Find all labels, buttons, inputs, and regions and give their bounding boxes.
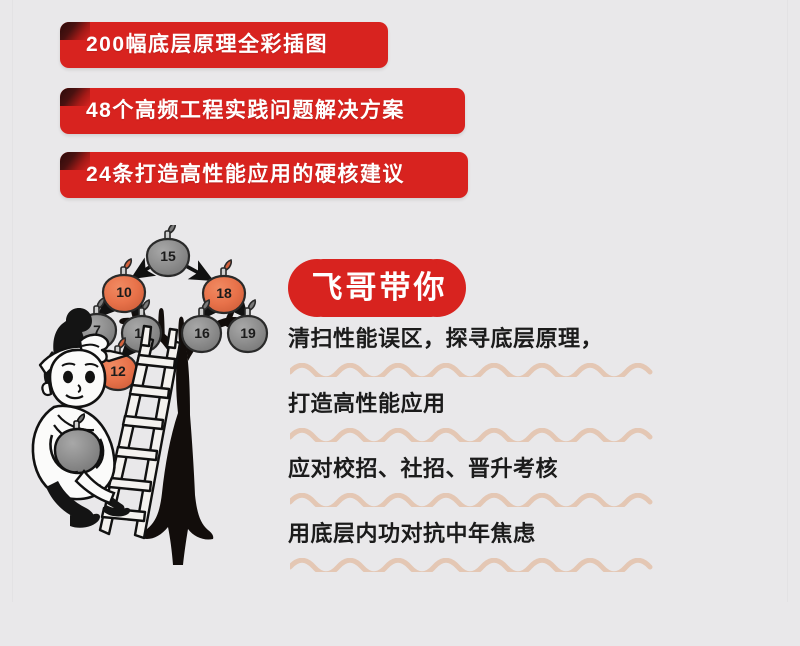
feature-banner-1[interactable]: 200幅底层原理全彩插图 bbox=[60, 22, 388, 68]
svg-text:10: 10 bbox=[116, 284, 132, 300]
apple-node-15: 15 bbox=[147, 225, 189, 276]
wave-divider-4 bbox=[290, 558, 680, 572]
wave-divider-2 bbox=[290, 428, 680, 442]
apple-node-10: 10 bbox=[103, 259, 145, 312]
poster-page: 200幅底层原理全彩插图 48个高频工程实践问题解决方案 24条打造高性能应用的… bbox=[0, 0, 800, 646]
promo-line-3: 应对校招、社招、晋升考核 bbox=[288, 454, 708, 484]
svg-text:18: 18 bbox=[216, 285, 232, 301]
promo-text-column: 飞哥带你 清扫性能误区，探寻底层原理， 打造高性能应用 应对校招、社招、晋升考核… bbox=[288, 258, 708, 584]
wave-divider-3 bbox=[290, 493, 680, 507]
brand-badge-label: 飞哥带你 bbox=[288, 258, 468, 318]
svg-text:15: 15 bbox=[160, 248, 176, 264]
svg-text:12: 12 bbox=[110, 363, 126, 379]
promo-line-4: 用底层内功对抗中年焦虑 bbox=[288, 519, 708, 549]
red-black-tree-illustration: 15 10 18 bbox=[10, 225, 290, 610]
feature-banner-2[interactable]: 48个高频工程实践问题解决方案 bbox=[60, 88, 465, 134]
feature-banner-3-label: 24条打造高性能应用的硬核建议 bbox=[60, 152, 468, 198]
wave-divider-1 bbox=[290, 363, 680, 377]
brand-badge[interactable]: 飞哥带你 bbox=[288, 258, 468, 318]
svg-text:16: 16 bbox=[194, 325, 210, 341]
promo-line-1: 清扫性能误区，探寻底层原理， bbox=[288, 324, 708, 354]
feature-banner-3[interactable]: 24条打造高性能应用的硬核建议 bbox=[60, 152, 468, 198]
promo-line-2: 打造高性能应用 bbox=[288, 389, 708, 419]
feature-banner-1-label: 200幅底层原理全彩插图 bbox=[60, 22, 388, 68]
feature-banner-2-label: 48个高频工程实践问题解决方案 bbox=[60, 88, 465, 134]
svg-text:19: 19 bbox=[240, 325, 256, 341]
edge-15-18 bbox=[186, 266, 210, 279]
